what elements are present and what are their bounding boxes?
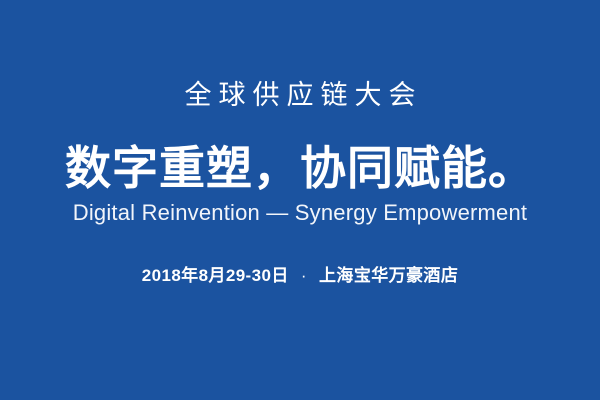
event-venue: 上海宝华万豪酒店 bbox=[319, 266, 458, 285]
banner-content: 全球供应链大会 数字重塑，协同赋能。 Digital Reinvention —… bbox=[0, 0, 600, 287]
slogan-english: Digital Reinvention — Synergy Empowermen… bbox=[73, 199, 528, 227]
separator-dot: · bbox=[294, 265, 314, 287]
event-name: 全球供应链大会 bbox=[178, 78, 423, 112]
event-date: 2018年8月29-30日 bbox=[142, 266, 289, 285]
slogan-primary: 数字重塑，协同赋能。 bbox=[65, 139, 535, 197]
date-venue-line: 2018年8月29-30日 · 上海宝华万豪酒店 bbox=[142, 265, 458, 287]
event-banner: 全球供应链大会 数字重塑，协同赋能。 Digital Reinvention —… bbox=[0, 0, 600, 400]
